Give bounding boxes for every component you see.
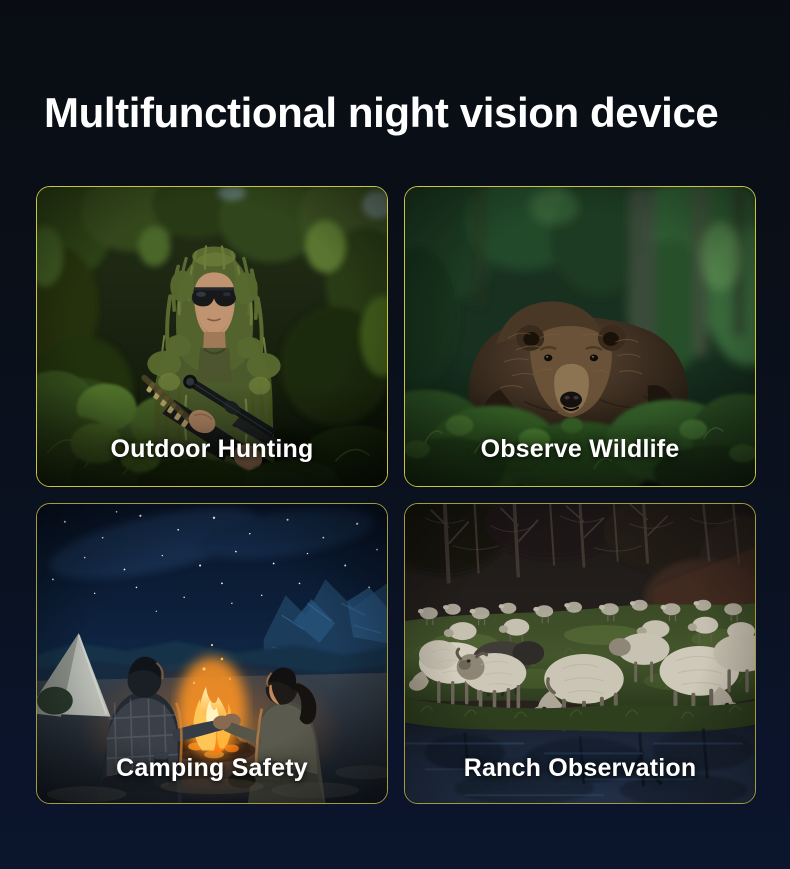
card-ranch-observation[interactable]: Ranch Observation <box>404 503 756 804</box>
card-label-camping-safety: Camping Safety <box>37 754 387 783</box>
card-camping-safety[interactable]: Camping Safety <box>36 503 388 804</box>
page-title: Multifunctional night vision device <box>44 89 718 137</box>
card-outdoor-hunting[interactable]: Outdoor Hunting <box>36 186 388 487</box>
card-label-observe-wildlife: Observe Wildlife <box>405 435 755 464</box>
card-observe-wildlife[interactable]: Observe Wildlife <box>404 186 756 487</box>
promo-page: Multifunctional night vision device <box>0 0 790 869</box>
card-label-outdoor-hunting: Outdoor Hunting <box>37 435 387 464</box>
card-label-ranch-observation: Ranch Observation <box>405 754 755 783</box>
feature-card-grid: Outdoor Hunting <box>36 186 756 806</box>
